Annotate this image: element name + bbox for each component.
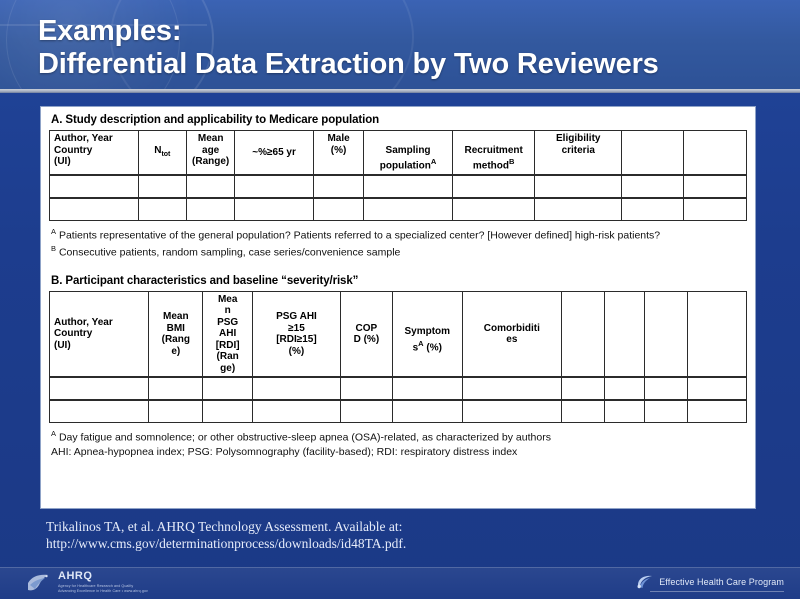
footnote-marker: A xyxy=(51,429,56,438)
swoosh-icon xyxy=(636,573,654,591)
cell[interactable] xyxy=(50,400,149,423)
col-blank-a2 xyxy=(684,131,747,175)
cell[interactable] xyxy=(561,400,604,423)
cell[interactable] xyxy=(462,400,561,423)
table-header-row: Author, Year Country (UI) Mean BMI (Rang… xyxy=(50,291,747,377)
cell[interactable] xyxy=(138,175,186,198)
cell[interactable] xyxy=(252,400,340,423)
slide-canvas: Examples: Differential Data Extraction b… xyxy=(0,0,800,599)
col-mean-bmi: Mean BMI (Rang e) xyxy=(149,291,203,377)
footnote-text: Patients representative of the general p… xyxy=(59,229,660,241)
cell[interactable] xyxy=(313,175,363,198)
cell[interactable] xyxy=(149,400,203,423)
cell[interactable] xyxy=(622,175,684,198)
col-author-year-country: Author, Year Country (UI) xyxy=(50,131,139,175)
cell[interactable] xyxy=(313,198,363,221)
cell[interactable] xyxy=(340,400,392,423)
cell[interactable] xyxy=(364,198,453,221)
footnote-text: Consecutive patients, random sampling, c… xyxy=(59,247,400,259)
cell[interactable] xyxy=(364,175,453,198)
cell[interactable] xyxy=(50,175,139,198)
cell[interactable] xyxy=(235,175,314,198)
table-row[interactable] xyxy=(50,198,747,221)
cell[interactable] xyxy=(645,400,688,423)
cell[interactable] xyxy=(392,400,462,423)
col-blank-b1 xyxy=(561,291,604,377)
col-symptoms-suffix: (%) xyxy=(424,342,442,353)
ahrq-logo: AHRQ Agency for Healthcare Research and … xyxy=(26,571,148,594)
cell[interactable] xyxy=(50,377,149,400)
footnote-marker: B xyxy=(51,244,56,253)
col-sampling-population-superscript: A xyxy=(431,157,436,166)
footnote-a-1: A Patients representative of the general… xyxy=(51,225,747,243)
cell[interactable] xyxy=(203,400,253,423)
section-a-heading: A. Study description and applicability t… xyxy=(51,114,747,126)
table-participant-characteristics: Author, Year Country (UI) Mean BMI (Rang… xyxy=(49,291,747,424)
ahrq-eagle-icon xyxy=(26,572,52,594)
cell[interactable] xyxy=(203,377,253,400)
header-divider xyxy=(0,89,800,93)
col-n-total-subscript: tot xyxy=(161,151,170,158)
cell[interactable] xyxy=(186,198,234,221)
section-a-footnotes: A Patients representative of the general… xyxy=(51,225,747,260)
cell[interactable] xyxy=(604,400,645,423)
col-blank-a1 xyxy=(622,131,684,175)
table-row[interactable] xyxy=(50,400,747,423)
col-n-total: Ntot xyxy=(138,131,186,175)
footnote-text: AHI: Apnea-hypopnea index; PSG: Polysomn… xyxy=(51,446,517,458)
cell[interactable] xyxy=(392,377,462,400)
cell[interactable] xyxy=(186,175,234,198)
cell[interactable] xyxy=(462,377,561,400)
content-panel: A. Study description and applicability t… xyxy=(40,106,756,509)
cell[interactable] xyxy=(535,175,622,198)
cell[interactable] xyxy=(561,377,604,400)
col-male-pct: Male (%) xyxy=(313,131,363,175)
col-mean-age: Mean age (Range) xyxy=(186,131,234,175)
cell[interactable] xyxy=(684,175,747,198)
slide-footer: AHRQ Agency for Healthcare Research and … xyxy=(0,567,800,599)
cell[interactable] xyxy=(50,198,139,221)
footnote-b-1: A Day fatigue and somnolence; or other o… xyxy=(51,427,747,445)
col-recruitment-method: Recruitment methodB xyxy=(452,131,535,175)
table-row[interactable] xyxy=(50,175,747,198)
effective-health-care-underline xyxy=(650,591,784,592)
cell[interactable] xyxy=(452,198,535,221)
ahrq-logo-name: AHRQ xyxy=(58,571,148,582)
col-blank-b2 xyxy=(604,291,645,377)
cell[interactable] xyxy=(252,377,340,400)
cell[interactable] xyxy=(149,377,203,400)
col-mean-psg-ahi-rdi: Mea n PSG AHI [RDI] (Ran ge) xyxy=(203,291,253,377)
citation-text: Trikalinos TA, et al. AHRQ Technology As… xyxy=(46,518,746,552)
col-eligibility-criteria: Eligibility criteria xyxy=(535,131,622,175)
col-author-year-country: Author, Year Country (UI) xyxy=(50,291,149,377)
col-symptoms-pct: Symptom sA (%) xyxy=(392,291,462,377)
section-b-footnotes: A Day fatigue and somnolence; or other o… xyxy=(51,427,747,459)
footer-divider xyxy=(0,567,800,568)
ahrq-logo-text: AHRQ Agency for Healthcare Research and … xyxy=(58,571,148,594)
footnote-b-2: AHI: Apnea-hypopnea index; PSG: Polysomn… xyxy=(51,445,747,459)
table-study-description: Author, Year Country (UI) Ntot Mean age … xyxy=(49,130,747,221)
col-blank-b4 xyxy=(688,291,747,377)
col-psg-ahi-15: PSG AHI ≥15 [RDI≥15] (%) xyxy=(252,291,340,377)
col-sampling-population-label: Sampling population xyxy=(380,145,431,172)
section-spacer xyxy=(49,260,747,274)
table-header-row: Author, Year Country (UI) Ntot Mean age … xyxy=(50,131,747,175)
col-copd-pct: COP D (%) xyxy=(340,291,392,377)
footnote-marker: A xyxy=(51,227,56,236)
footnote-a-2: B Consecutive patients, random sampling,… xyxy=(51,242,747,260)
ahrq-logo-tagline: Agency for Healthcare Research and Quali… xyxy=(58,584,148,594)
cell[interactable] xyxy=(138,198,186,221)
page-title: Examples: Differential Data Extraction b… xyxy=(38,15,768,81)
cell[interactable] xyxy=(535,198,622,221)
col-pct-over-65: ~%≥65 yr xyxy=(235,131,314,175)
cell[interactable] xyxy=(622,198,684,221)
col-recruitment-method-superscript: B xyxy=(509,157,514,166)
cell[interactable] xyxy=(452,175,535,198)
table-row[interactable] xyxy=(50,377,747,400)
cell[interactable] xyxy=(235,198,314,221)
effective-health-care-logo: Effective Health Care Program xyxy=(636,573,784,591)
cell[interactable] xyxy=(604,377,645,400)
cell[interactable] xyxy=(645,377,688,400)
footnote-text: Day fatigue and somnolence; or other obs… xyxy=(59,432,551,444)
cell[interactable] xyxy=(340,377,392,400)
effective-health-care-label: Effective Health Care Program xyxy=(659,577,784,587)
col-sampling-population: Sampling populationA xyxy=(364,131,453,175)
cell[interactable] xyxy=(684,198,747,221)
col-comorbidities: Comorbiditi es xyxy=(462,291,561,377)
section-b-heading: B. Participant characteristics and basel… xyxy=(51,275,747,287)
col-blank-b3 xyxy=(645,291,688,377)
cell[interactable] xyxy=(688,400,747,423)
cell[interactable] xyxy=(688,377,747,400)
